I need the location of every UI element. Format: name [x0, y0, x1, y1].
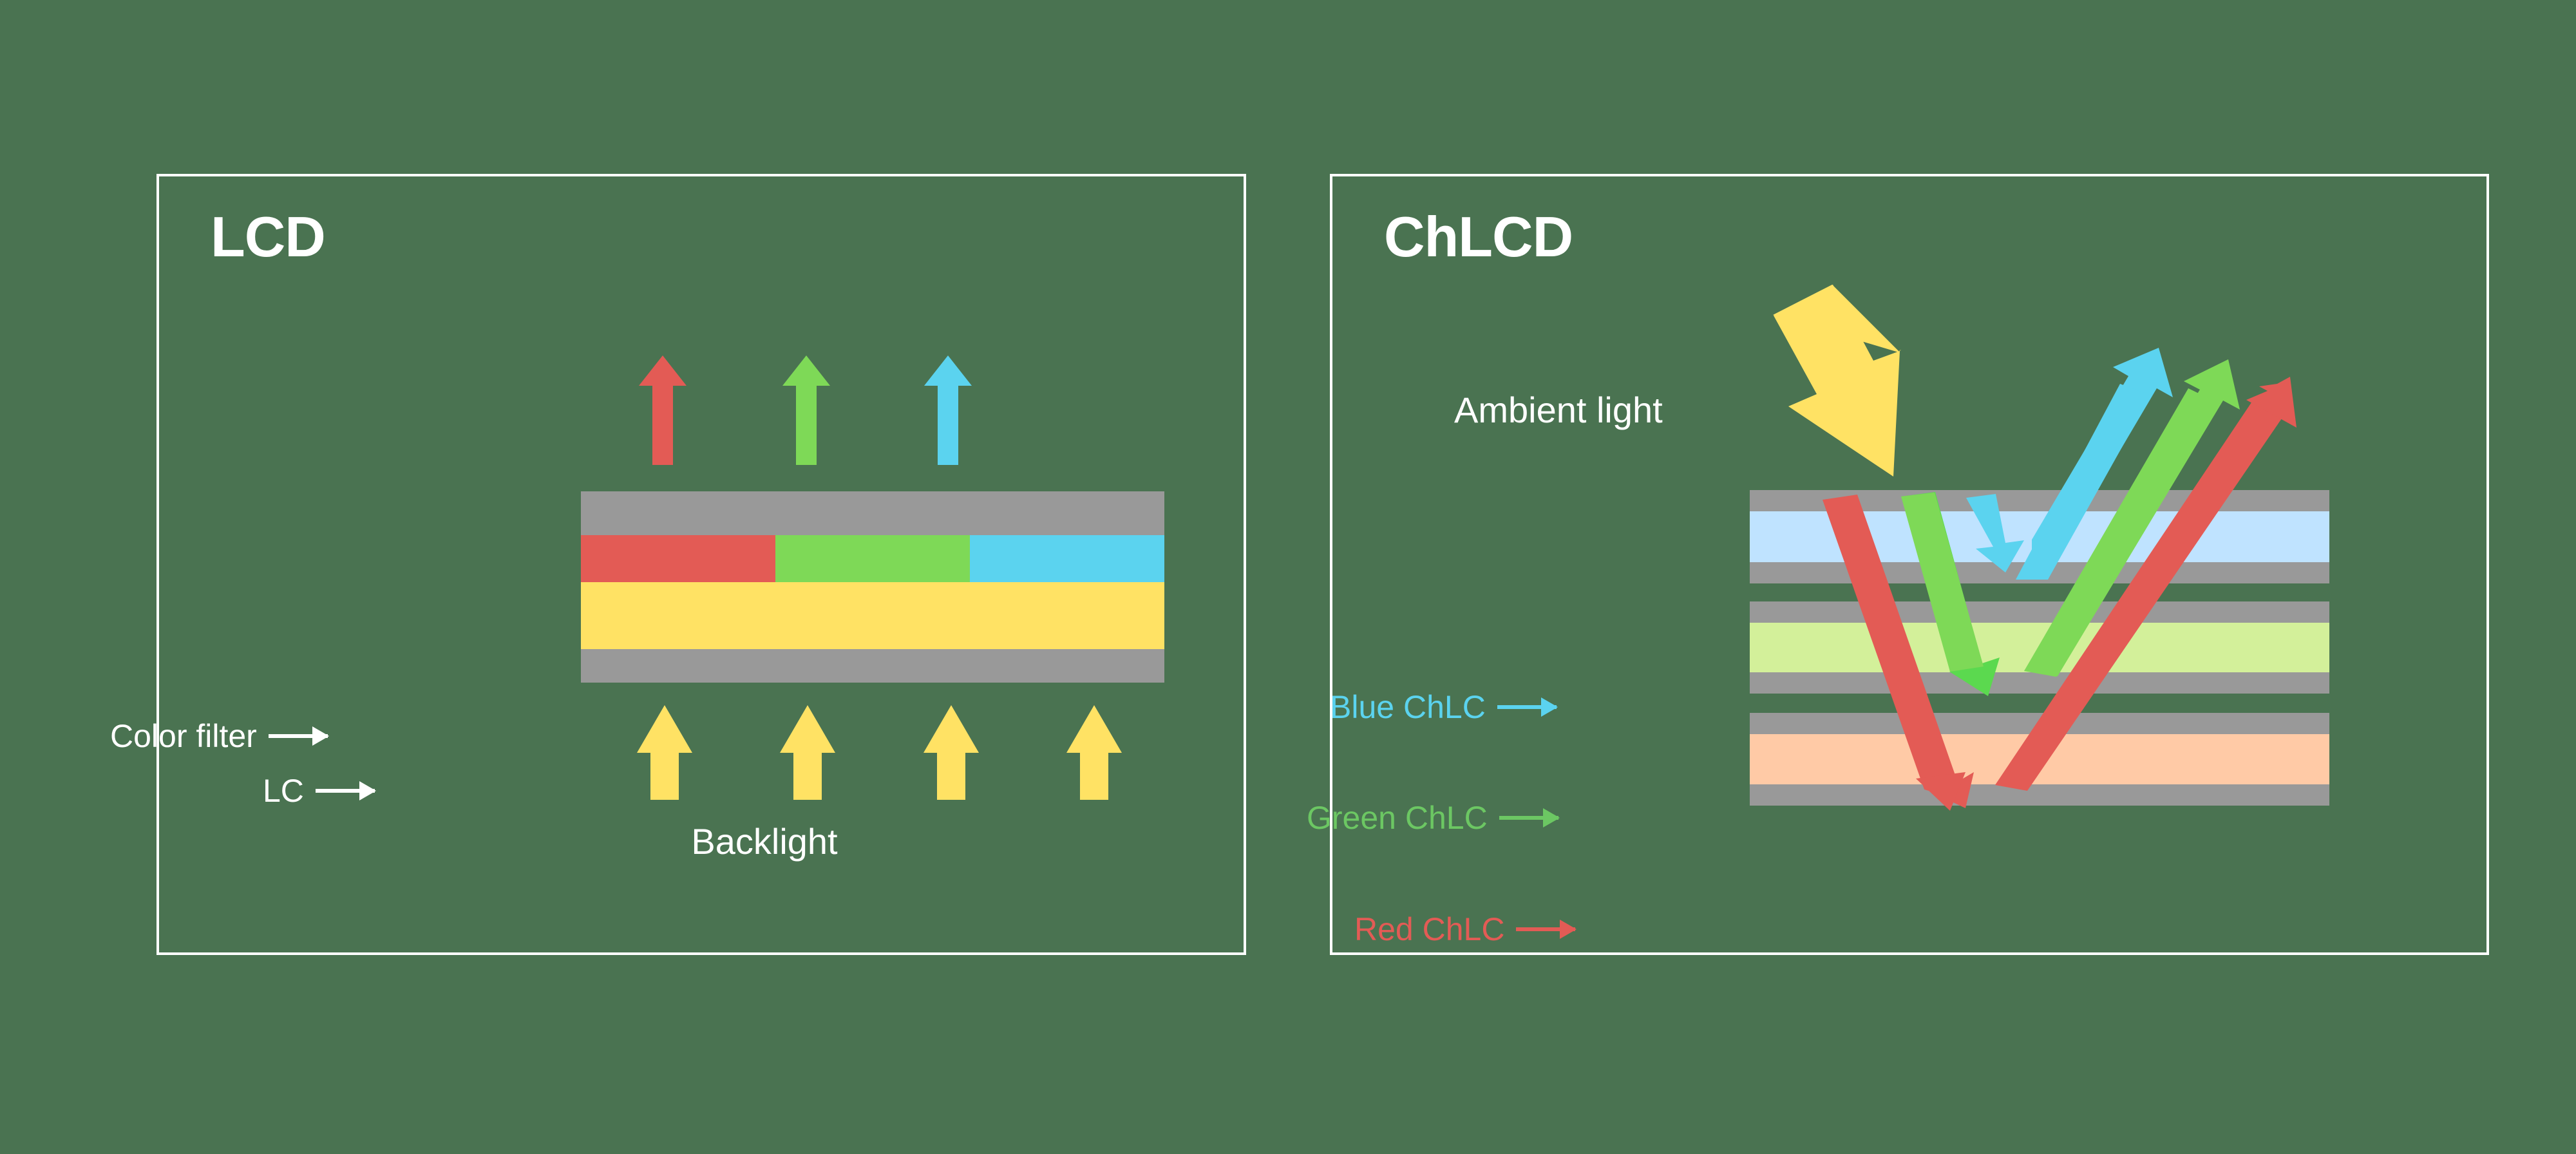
red-chlc-layer-group	[1750, 713, 2329, 808]
chlcd-panel-title: ChLCD	[1384, 209, 1573, 265]
green-layer-bottom-substrate	[1750, 672, 2329, 694]
diagram-canvas: LCD Color filter LC	[0, 0, 2576, 1154]
blue-light-arrow	[924, 355, 972, 465]
blue-layer-bottom-substrate	[1750, 562, 2329, 583]
lcd-color-filter-blue	[970, 535, 1164, 582]
label-lc: LC	[263, 772, 375, 809]
label-red-chlc-text: Red ChLC	[1354, 911, 1504, 948]
lcd-liquid-crystal-layer	[581, 582, 1164, 649]
label-color-filter: Color filter	[110, 717, 328, 755]
backlight-arrow-2	[780, 705, 835, 800]
green-layer-top-substrate	[1750, 601, 2329, 623]
lcd-color-filter-green	[775, 535, 970, 582]
green-chlc-core	[1750, 623, 2329, 672]
red-chlc-pointer-arrow-icon	[1516, 927, 1575, 931]
red-light-arrow	[639, 355, 687, 465]
lcd-panel-title: LCD	[211, 209, 325, 265]
red-chlc-core	[1750, 734, 2329, 784]
lcd-top-substrate	[581, 491, 1164, 535]
label-blue-chlc-text: Blue ChLC	[1330, 688, 1486, 726]
label-red-chlc: Red ChLC	[1354, 911, 1575, 948]
label-green-chlc: Green ChLC	[1307, 799, 1558, 837]
backlight-arrow-4	[1066, 705, 1122, 800]
backlight-caption: Backlight	[691, 820, 837, 862]
color-filter-pointer-arrow-icon	[269, 734, 328, 738]
blue-chlc-core	[1750, 511, 2329, 562]
backlight-arrow-1	[637, 705, 692, 800]
red-layer-top-substrate	[1750, 713, 2329, 734]
chlcd-panel: ChLCD Ambient light Blue ChLC Green ChLC…	[1330, 174, 2489, 955]
blue-layer-top-substrate	[1750, 490, 2329, 511]
blue-chlc-pointer-arrow-icon	[1497, 705, 1557, 709]
label-color-filter-text: Color filter	[110, 717, 257, 755]
lcd-color-filter-red	[581, 535, 775, 582]
green-light-arrow	[782, 355, 830, 465]
red-layer-bottom-substrate	[1750, 784, 2329, 806]
label-blue-chlc: Blue ChLC	[1330, 688, 1557, 726]
green-chlc-pointer-arrow-icon	[1499, 816, 1558, 820]
backlight-arrow-3	[923, 705, 979, 800]
lcd-panel: LCD Color filter LC	[156, 174, 1246, 955]
lcd-bottom-substrate	[581, 649, 1164, 683]
label-lc-text: LC	[263, 772, 304, 809]
label-green-chlc-text: Green ChLC	[1307, 799, 1488, 837]
blue-chlc-layer-group	[1750, 490, 2329, 584]
ambient-light-caption: Ambient light	[1454, 389, 1663, 431]
lc-pointer-arrow-icon	[316, 789, 375, 793]
green-chlc-layer-group	[1750, 601, 2329, 694]
lcd-layer-stack	[581, 491, 1164, 683]
